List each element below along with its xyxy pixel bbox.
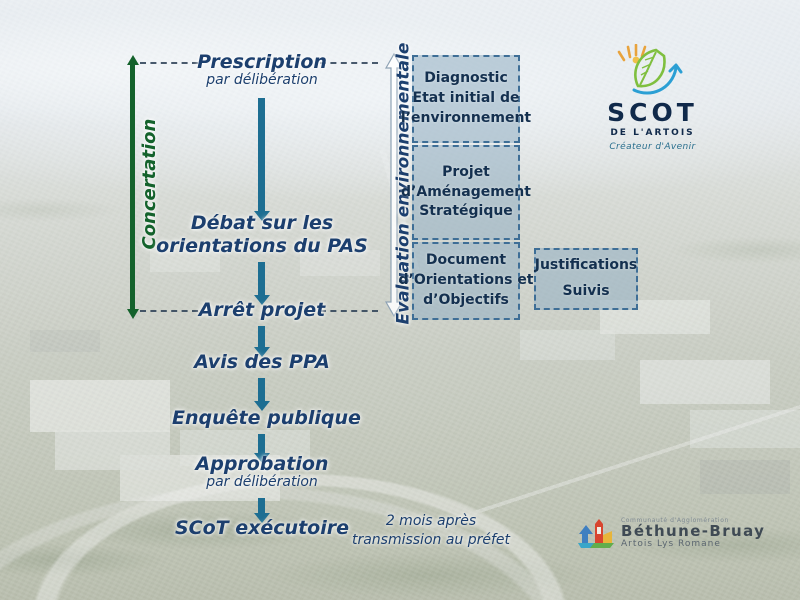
flow-arrow-approbation-to-executoire	[258, 498, 265, 514]
scot-logo-wordmark: SCOT	[565, 100, 740, 125]
belfry-town-emblem-icon	[576, 516, 616, 550]
step-debat-line2: orientations du PAS	[156, 235, 368, 257]
document-box-pas-line2: d’Aménagement	[401, 183, 531, 203]
agglomeration-logo-name: Béthune-Bruay	[621, 524, 765, 540]
step-approbation-label: Approbation	[196, 453, 329, 475]
leaf-swoosh-sun-logo-icon	[610, 44, 696, 100]
step-debat-line1: Débat sur les	[191, 212, 333, 234]
agglomeration-logo: Communauté d'Agglomération Béthune-Bruay…	[576, 516, 765, 550]
step-debat: Débat sur les orientations du PAS	[152, 212, 372, 258]
document-box-pas-line1: Projet	[442, 163, 490, 183]
flow-arrow-enquete-to-approbation	[258, 434, 265, 454]
document-box-doo-line1: Document	[426, 251, 506, 271]
flow-arrow-avis-to-enquete	[258, 378, 265, 402]
slide-canvas: Concertation Evaluation environnementale…	[0, 0, 800, 600]
document-box-doo: Document d’Orientations et d’Objectifs	[412, 242, 520, 320]
agglomeration-logo-sub: Artois Lys Romane	[621, 539, 765, 549]
flow-arrow-debat-to-arret	[258, 262, 265, 296]
concertation-double-arrow	[130, 64, 135, 310]
document-box-pas-line3: Stratégique	[419, 202, 513, 222]
document-box-diagnostic-line3: l’environnement	[401, 109, 531, 129]
step-enquete-publique: Enquête publique	[172, 408, 352, 429]
document-box-diagnostic: Diagnostic Etat initial de l’environneme…	[412, 55, 520, 143]
step-arret-projet: Arrêt projet	[182, 300, 342, 321]
document-box-diagnostic-line2: Etat initial de	[413, 89, 520, 109]
flow-arrow-prescription-to-debat	[258, 98, 265, 212]
scot-logo: SCOT DE L'ARTOIS Créateur d'Avenir	[565, 44, 740, 152]
scot-logo-tagline: Créateur d'Avenir	[565, 142, 740, 152]
document-box-justifications-line2: Suivis	[562, 282, 609, 302]
document-box-justifications: Justifications Suivis	[534, 248, 638, 310]
step-approbation-sub: par délibération	[182, 475, 342, 491]
document-box-pas: Projet d’Aménagement Stratégique	[412, 145, 520, 240]
document-box-doo-line3: d’Objectifs	[423, 291, 509, 311]
note-delay: 2 mois après transmission au préfet	[336, 512, 526, 550]
note-delay-line1: 2 mois après	[386, 513, 476, 529]
step-prescription-sub: par délibération	[162, 73, 362, 89]
step-prescription: Prescription par délibération	[162, 52, 362, 89]
step-scot-executoire: SCoT exécutoire	[172, 518, 352, 539]
note-delay-line2: transmission au préfet	[352, 532, 510, 548]
scot-logo-subtitle: DE L'ARTOIS	[565, 128, 740, 138]
step-avis-ppa: Avis des PPA	[182, 352, 342, 373]
step-prescription-label: Prescription	[197, 51, 327, 73]
document-box-doo-line2: d’Orientations et	[398, 271, 533, 291]
document-box-diagnostic-line1: Diagnostic	[424, 69, 508, 89]
step-approbation: Approbation par délibération	[182, 454, 342, 491]
flow-arrow-arret-to-avis	[258, 326, 265, 348]
document-box-justifications-line1: Justifications	[535, 256, 638, 276]
